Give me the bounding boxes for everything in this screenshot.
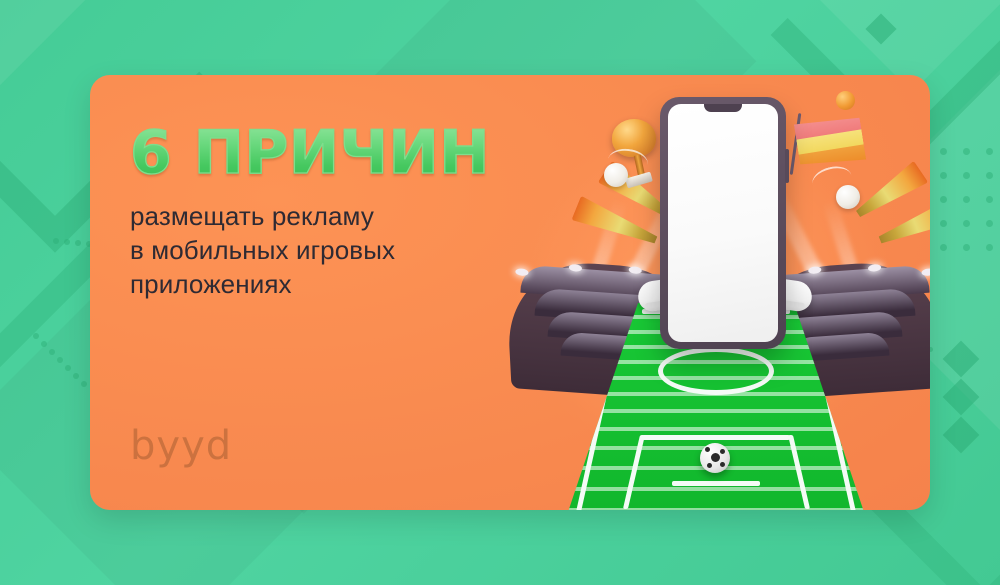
vuvuzela-horn	[851, 161, 929, 225]
stadium-lamp	[921, 268, 930, 276]
phone-screen[interactable]	[668, 104, 778, 342]
page-title: 6 ПРИЧИН	[130, 123, 560, 183]
illustration-3d-scene	[520, 75, 930, 510]
brand-logo[interactable]: byyd	[130, 426, 232, 466]
subtitle-line-2: в мобильных игровых	[130, 234, 560, 268]
smartphone[interactable]	[660, 97, 786, 349]
subtitle-line-1: размещать рекламу	[130, 200, 560, 234]
soccer-ball	[700, 443, 730, 473]
poster-canvas: 6 ПРИЧИН размещать рекламу в мобильных и…	[0, 0, 1000, 585]
subtitle-line-3: приложениях	[130, 268, 560, 302]
goal-box-line	[672, 481, 760, 486]
coin	[836, 91, 855, 110]
penalty-box-line	[642, 435, 790, 440]
phone-side-button[interactable]	[785, 149, 789, 183]
center-circle	[658, 347, 774, 395]
headline-block: 6 ПРИЧИН размещать рекламу в мобильных и…	[130, 123, 560, 301]
phone-notch	[704, 104, 742, 112]
subtitle: размещать рекламу в мобильных игровых пр…	[130, 200, 560, 301]
orange-content-card: 6 ПРИЧИН размещать рекламу в мобильных и…	[90, 75, 930, 510]
